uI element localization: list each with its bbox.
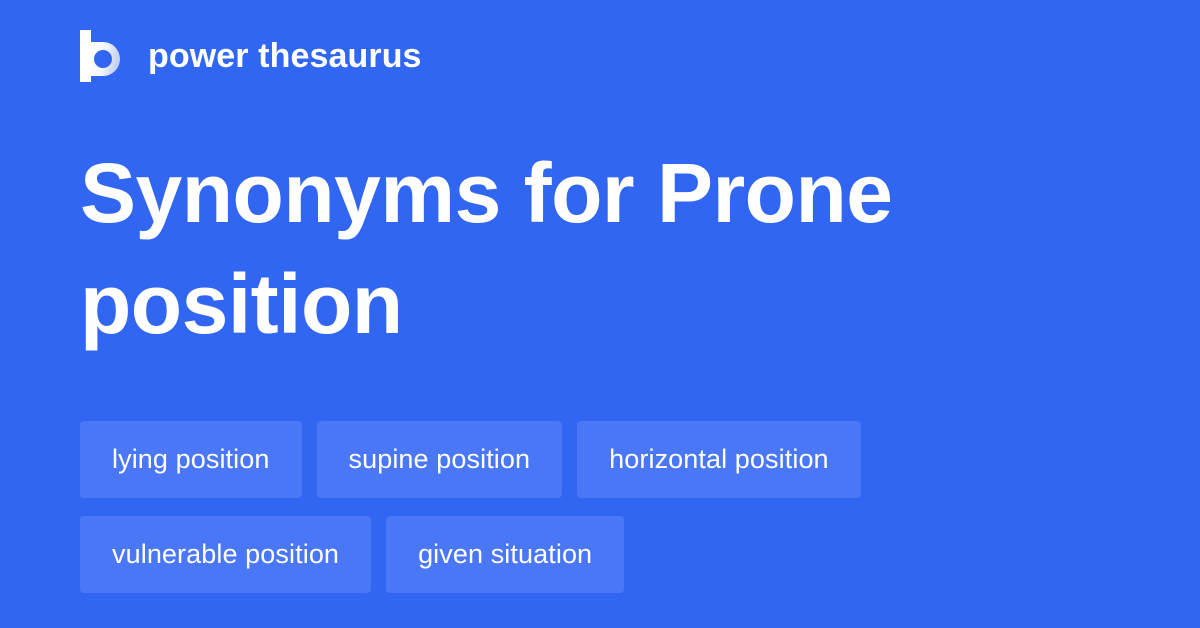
- synonyms-share-card: power thesaurus Synonyms for Prone posit…: [0, 0, 1200, 628]
- page-title-line-1: Synonyms for Prone: [80, 146, 893, 240]
- synonym-tag[interactable]: lying position: [80, 421, 302, 498]
- synonym-tag[interactable]: horizontal position: [577, 421, 861, 498]
- synonym-tag[interactable]: given situation: [386, 516, 624, 593]
- power-thesaurus-logo-icon: [80, 30, 126, 82]
- synonym-tag-row: vulnerable position given situation: [80, 516, 1140, 593]
- synonym-tag-label: supine position: [349, 446, 531, 473]
- page-title-line-2: position: [80, 257, 403, 351]
- synonym-tag-label: lying position: [112, 446, 270, 473]
- brand-header[interactable]: power thesaurus: [80, 28, 422, 84]
- synonym-tag-label: given situation: [418, 541, 592, 568]
- synonym-tag[interactable]: supine position: [317, 421, 563, 498]
- brand-name: power thesaurus: [148, 39, 422, 73]
- synonym-tag-row: lying position supine position horizonta…: [80, 421, 1140, 498]
- synonym-tag-label: horizontal position: [609, 446, 829, 473]
- synonym-tag[interactable]: vulnerable position: [80, 516, 371, 593]
- synonym-tag-label: vulnerable position: [112, 541, 339, 568]
- page-title: Synonyms for Prone position: [80, 138, 1080, 360]
- synonym-tag-list: lying position supine position horizonta…: [80, 421, 1140, 593]
